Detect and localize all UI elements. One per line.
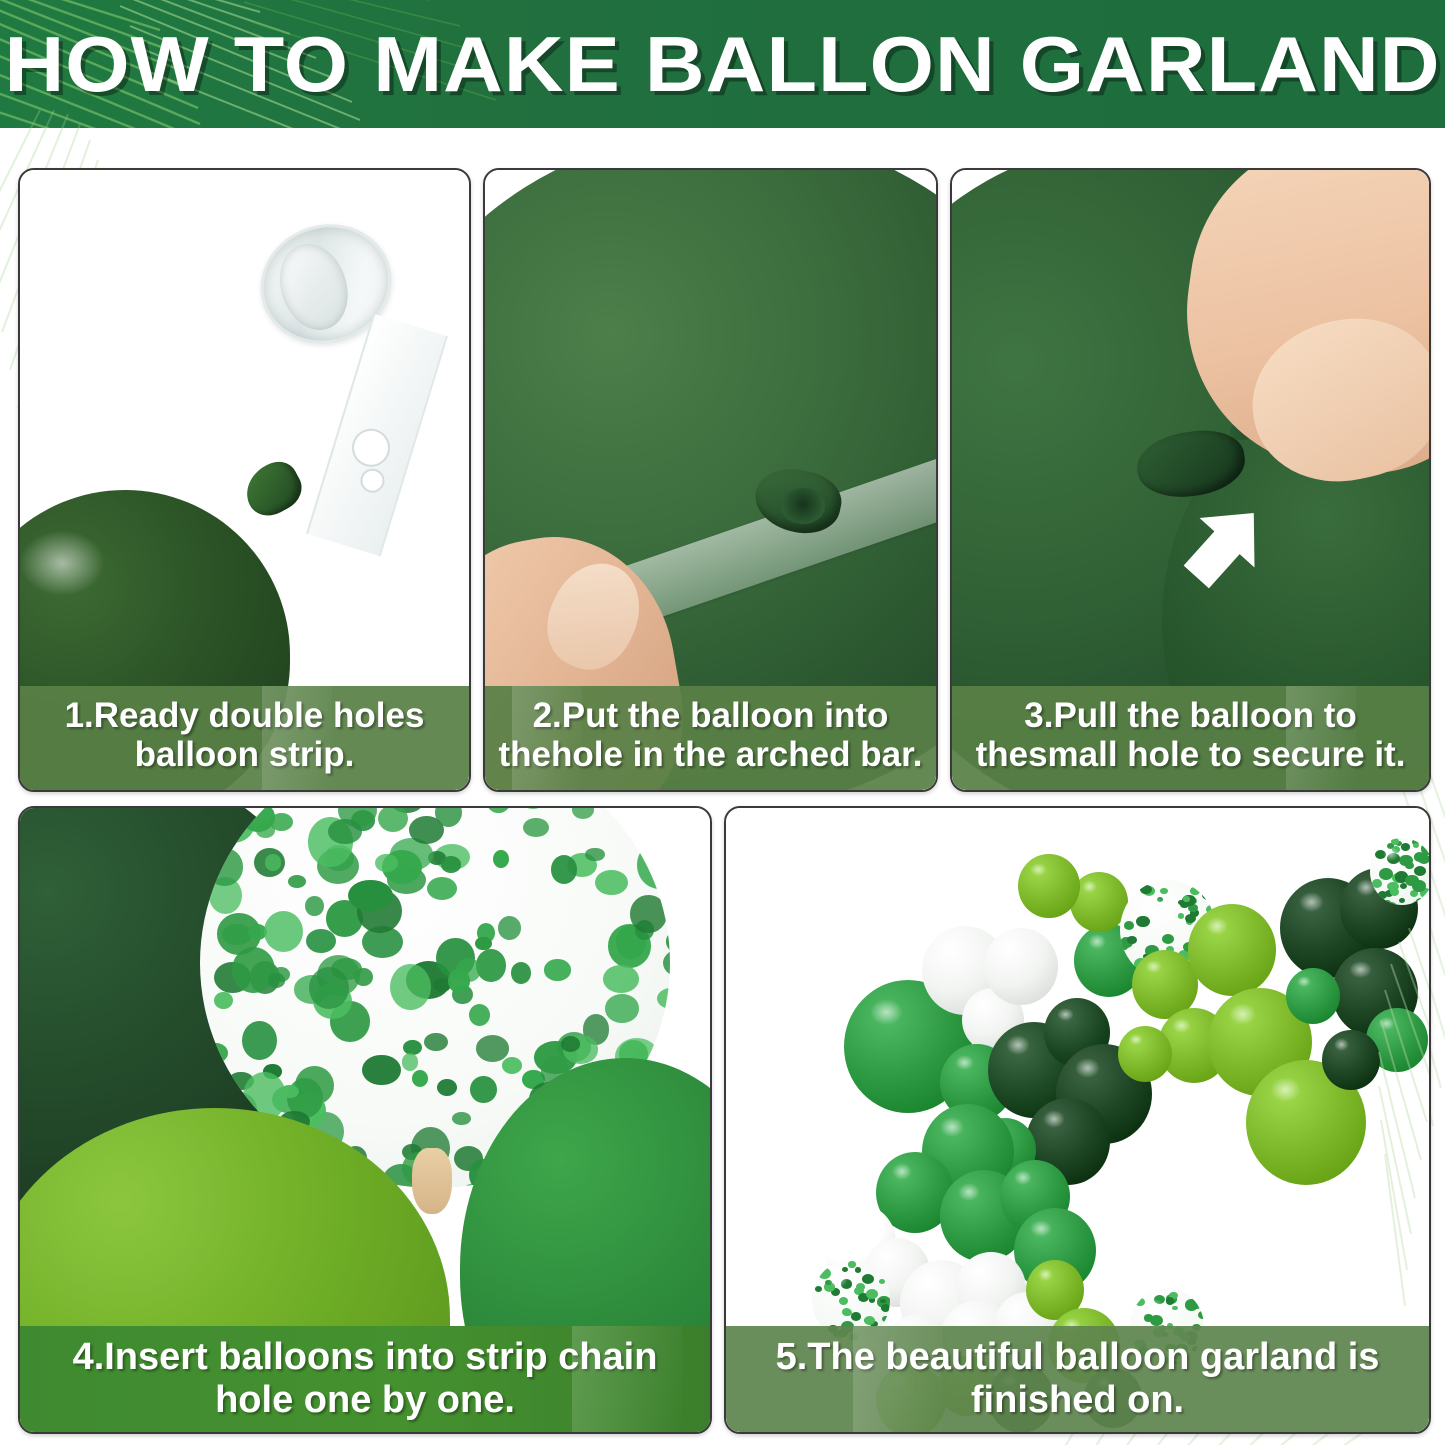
- confetti-dot: [657, 988, 670, 1009]
- step-panel-2[interactable]: 2.Put the balloon into thehole in the ar…: [483, 168, 938, 792]
- step-2-caption: 2.Put the balloon into thehole in the ar…: [485, 686, 936, 790]
- confetti-dot: [1127, 936, 1137, 944]
- confetti-dot: [1390, 888, 1399, 896]
- confetti-dot: [452, 1112, 470, 1125]
- confetti-dot: [1186, 1289, 1194, 1296]
- confetti-dot: [637, 841, 670, 889]
- step-panel-1[interactable]: 1.Ready double holes balloon strip.: [18, 168, 471, 792]
- confetti-dot: [663, 949, 670, 977]
- step-2-caption-text: 2.Put the balloon into thehole in the ar…: [499, 696, 923, 774]
- palm-leaf-icon: [1319, 928, 1429, 1348]
- confetti-dot: [1379, 868, 1393, 880]
- confetti-dot: [825, 1280, 832, 1286]
- confetti-dot: [595, 870, 628, 896]
- garland-balloon: [984, 928, 1058, 1005]
- confetti-dot: [851, 1312, 861, 1320]
- confetti-dot: [427, 877, 457, 900]
- confetti-dot: [1202, 890, 1214, 900]
- confetti-dot: [412, 1070, 428, 1087]
- step-4-caption-text: 4.Insert balloons into strip chain hole …: [73, 1336, 658, 1421]
- confetti-dot: [1162, 934, 1174, 945]
- confetti-dot: [875, 1263, 882, 1269]
- confetti-dot: [551, 855, 578, 884]
- confetti-dot: [493, 850, 509, 868]
- step-panel-3[interactable]: 3.Pull the balloon to thesmall hole to s…: [950, 168, 1431, 792]
- confetti-dot: [502, 1057, 522, 1074]
- confetti-dot: [544, 959, 570, 980]
- confetti-dot: [348, 880, 392, 911]
- confetti-dot: [649, 823, 669, 841]
- confetti-dot: [470, 1076, 497, 1103]
- confetti-dot: [242, 1021, 277, 1061]
- step-3-caption: 3.Pull the balloon to thesmall hole to s…: [952, 686, 1429, 790]
- confetti-dot: [256, 823, 275, 838]
- confetti-dot: [306, 929, 336, 953]
- confetti-dot: [1399, 898, 1405, 903]
- balloon-neck: [237, 455, 309, 524]
- confetti-dot: [441, 856, 461, 872]
- confetti-dot: [1405, 862, 1413, 869]
- confetti-dot: [1185, 914, 1196, 924]
- confetti-dot: [523, 818, 549, 838]
- confetti-dot: [511, 962, 531, 984]
- confetti-dot: [1136, 916, 1150, 928]
- confetti-dot: [206, 848, 242, 885]
- confetti-dot: [1385, 902, 1396, 904]
- garland-balloon: [1370, 838, 1429, 905]
- confetti-dot: [842, 1267, 848, 1272]
- confetti-dot: [864, 1316, 875, 1325]
- step-5-caption-text: 5.The beautiful balloon garland is finis…: [776, 1336, 1380, 1421]
- balloon-neck-opening: [781, 488, 825, 524]
- garland-balloon: [1018, 854, 1080, 918]
- confetti-dot: [666, 930, 670, 953]
- confetti-dot: [1198, 1311, 1204, 1320]
- confetti-dot: [264, 911, 303, 952]
- confetti-dot: [1194, 1295, 1202, 1302]
- steps-grid: 1.Ready double holes balloon strip. 2.Pu…: [18, 168, 1427, 1430]
- confetti-dot: [1387, 853, 1400, 864]
- confetti-dot: [476, 1035, 509, 1061]
- confetti-dot: [862, 1274, 874, 1284]
- step-1-caption: 1.Ready double holes balloon strip.: [20, 686, 469, 790]
- step-1-caption-text: 1.Ready double holes balloon strip.: [65, 696, 425, 774]
- confetti-dot: [268, 973, 285, 987]
- confetti-dot: [1150, 1315, 1163, 1326]
- step-3-caption-text: 3.Pull the balloon to thesmall hole to s…: [976, 696, 1406, 774]
- confetti-dot: [585, 848, 604, 862]
- confetti-dot: [866, 1289, 879, 1300]
- step-panel-4[interactable]: 4.Insert balloons into strip chain hole …: [18, 806, 712, 1434]
- confetti-dot: [469, 1004, 490, 1026]
- confetti-dot: [856, 1283, 866, 1291]
- confetti-dot: [603, 965, 640, 993]
- confetti-dot: [1413, 843, 1419, 848]
- step-panel-5[interactable]: 5.The beautiful balloon garland is finis…: [724, 806, 1431, 1434]
- confetti-dot: [884, 1261, 890, 1269]
- confetti-dot: [1157, 897, 1163, 902]
- strip-large-hole: [350, 427, 392, 469]
- confetti-dot: [841, 1279, 852, 1288]
- page-title: HOW TO MAKE BALLON GARLAND: [0, 0, 1445, 128]
- confetti-dot: [1178, 913, 1185, 919]
- confetti-dot: [818, 1268, 831, 1279]
- confetti-dot: [885, 1270, 890, 1278]
- confetti-dot: [1401, 843, 1410, 851]
- confetti-dot: [309, 967, 349, 1009]
- confetti-dot: [839, 1297, 848, 1305]
- confetti-dot: [1414, 866, 1426, 876]
- confetti-dot: [487, 808, 510, 813]
- confetti-dot: [561, 1036, 580, 1051]
- confetti-dot: [1124, 921, 1134, 930]
- confetti-dot: [1183, 896, 1189, 901]
- confetti-dot: [1414, 852, 1425, 861]
- confetti-dot: [424, 1033, 447, 1051]
- confetti-dot: [652, 808, 670, 824]
- confetti-dot: [630, 895, 666, 932]
- confetti-dot: [1190, 887, 1199, 895]
- confetti-dot: [203, 1043, 228, 1063]
- confetti-dot: [1122, 959, 1127, 964]
- step-4-caption: 4.Insert balloons into strip chain hole …: [20, 1326, 710, 1432]
- confetti-dot: [605, 994, 638, 1022]
- confetti-dot: [1172, 1306, 1177, 1310]
- confetti-dot: [390, 964, 431, 1011]
- confetti-dot: [214, 992, 233, 1009]
- confetti-dot: [402, 1053, 419, 1070]
- confetti-dot: [518, 808, 548, 809]
- confetti-dot: [1391, 838, 1399, 845]
- confetti-dot: [328, 819, 362, 844]
- confetti-dot: [1140, 885, 1152, 895]
- confetti-dot: [815, 1286, 822, 1292]
- balloon-tassel: [412, 1148, 452, 1214]
- confetti-dot: [448, 969, 470, 992]
- strip-small-hole: [360, 468, 385, 493]
- confetti-dot: [1166, 1297, 1174, 1304]
- confetti-dot: [375, 854, 398, 873]
- confetti-dot: [1412, 880, 1425, 891]
- confetti-dot: [305, 896, 324, 917]
- confetti-dot: [879, 1279, 885, 1284]
- confetti-dot: [881, 1304, 890, 1312]
- garland-balloon: [1188, 904, 1276, 996]
- confetti-dot: [1160, 888, 1167, 894]
- confetti-dot: [288, 875, 306, 889]
- confetti-dot: [848, 1261, 855, 1267]
- confetti-dot: [1372, 879, 1383, 888]
- confetti-dot: [572, 808, 595, 819]
- confetti-dot: [265, 854, 282, 870]
- infographic-root: HOW TO MAKE BALLON GARLAND: [0, 0, 1445, 1445]
- confetti-dot: [378, 808, 408, 832]
- balloon-strip-tail: [306, 314, 448, 557]
- confetti-dot: [1375, 850, 1386, 860]
- confetti-dot: [498, 916, 521, 940]
- confetti-dot: [1154, 1295, 1165, 1304]
- confetti-dot: [1378, 891, 1387, 898]
- confetti-dot: [362, 1055, 401, 1086]
- confetti-dot: [1392, 846, 1400, 853]
- confetti-dot: [855, 1267, 862, 1273]
- confetti-dot: [880, 1299, 886, 1304]
- header-banner: HOW TO MAKE BALLON GARLAND: [0, 0, 1445, 128]
- step-5-caption: 5.The beautiful balloon garland is finis…: [726, 1326, 1429, 1432]
- confetti-dot: [476, 949, 506, 981]
- garland-balloon: [1118, 1026, 1172, 1082]
- confetti-dot: [437, 1079, 457, 1096]
